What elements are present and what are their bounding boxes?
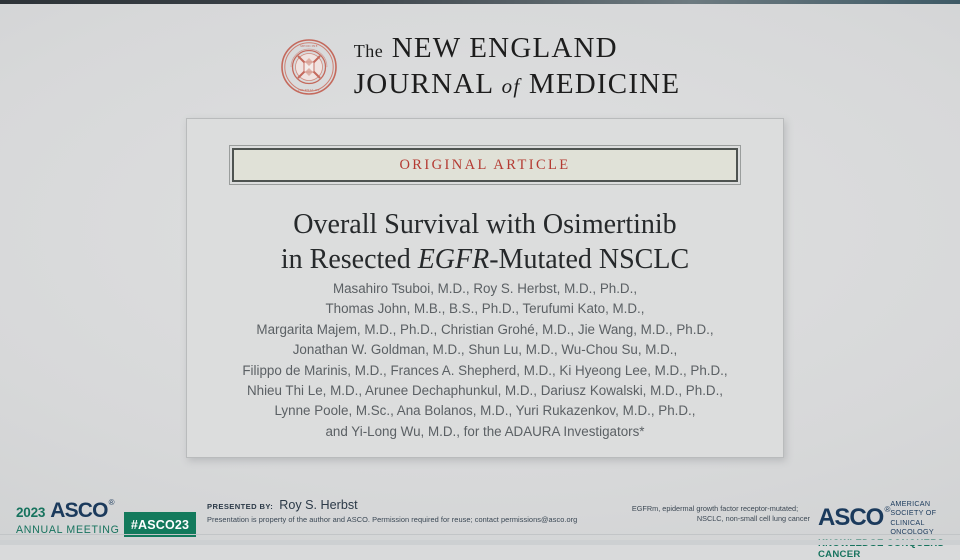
- title-gene-name: EGFR: [418, 244, 490, 275]
- author-line: Margarita Majem, M.D., Ph.D., Christian …: [187, 320, 783, 340]
- title-line2-prefix: in Resected: [281, 244, 418, 275]
- article-card: ORIGINAL ARTICLE Overall Survival with O…: [186, 118, 784, 458]
- article-title: Overall Survival with Osimertinib in Res…: [187, 207, 783, 278]
- footer-divider: [0, 534, 960, 535]
- author-line: Nhieu Thi Le, M.D., Arunee Dechaphunkul,…: [187, 381, 783, 401]
- registered-mark-icon: ®: [884, 506, 889, 514]
- abbreviation-line-2: NSCLC, non-small cell lung cancer: [620, 514, 810, 524]
- author-line: Thomas John, M.B., B.S., Ph.D., Terufumi…: [187, 299, 783, 319]
- masthead-new-england: NEW ENGLAND: [392, 32, 618, 64]
- article-title-line-2: in Resected EGFR-Mutated NSCLC: [187, 242, 783, 277]
- presenter-row: PRESENTED BY: Roy S. Herbst: [207, 498, 577, 512]
- asco-society-name: AMERICAN SOCIETY OF CLINICAL ONCOLOGY: [890, 499, 952, 536]
- asco-wordmark: ASCO®: [50, 499, 107, 523]
- slide-canvas: MEDICINE JOURNAL OF The NEW ENGLAND JOUR…: [0, 4, 960, 540]
- masthead-the: The: [354, 41, 383, 61]
- svg-text:MEDICINE: MEDICINE: [300, 44, 318, 48]
- presenter-name: Roy S. Herbst: [279, 498, 357, 512]
- original-article-label: ORIGINAL ARTICLE: [399, 157, 570, 174]
- svg-text:JOURNAL OF: JOURNAL OF: [298, 88, 320, 92]
- abbreviation-line-1: EGFRm, epidermal growth factor receptor-…: [620, 504, 810, 514]
- author-line: Masahiro Tsuboi, M.D., Roy S. Herbst, M.…: [187, 279, 783, 299]
- masthead-journal: JOURNAL: [354, 68, 493, 100]
- asco-society-name-line-1: AMERICAN SOCIETY OF: [890, 499, 952, 518]
- asco-annual-meeting-logo: 2023 ASCO® ANNUAL MEETING: [16, 499, 120, 536]
- nejm-masthead: MEDICINE JOURNAL OF The NEW ENGLAND JOUR…: [0, 34, 960, 99]
- asco-society-logo-row: ASCO® AMERICAN SOCIETY OF CLINICAL ONCOL…: [818, 499, 952, 536]
- article-title-line-1: Overall Survival with Osimertinib: [187, 207, 783, 242]
- masthead-of: of: [502, 74, 521, 98]
- bottom-letterbox-strip: [0, 540, 960, 545]
- presented-by-label: PRESENTED BY:: [207, 502, 273, 511]
- masthead-line-1: The NEW ENGLAND: [354, 34, 680, 63]
- author-line: Filippo de Marinis, M.D., Frances A. She…: [187, 361, 783, 381]
- original-article-banner: ORIGINAL ARTICLE: [229, 145, 741, 185]
- title-line2-suffix: -Mutated NSCLC: [489, 244, 689, 275]
- nejm-seal-icon: MEDICINE JOURNAL OF: [280, 38, 338, 96]
- asco-society-logo: ASCO® AMERICAN SOCIETY OF CLINICAL ONCOL…: [818, 499, 952, 560]
- permission-note: Presentation is property of the author a…: [207, 515, 577, 524]
- author-line: and Yi-Long Wu, M.D., for the ADAURA Inv…: [187, 422, 783, 442]
- author-line: Jonathan W. Goldman, M.D., Shun Lu, M.D.…: [187, 340, 783, 360]
- presenter-block: PRESENTED BY: Roy S. Herbst Presentation…: [207, 498, 577, 524]
- asco-society-wordmark-text: ASCO: [818, 504, 883, 531]
- original-article-banner-inner: ORIGINAL ARTICLE: [232, 148, 738, 182]
- masthead-line-2: JOURNAL of MEDICINE: [354, 70, 680, 99]
- slide-footer: 2023 ASCO® ANNUAL MEETING #ASCO23 PRESEN…: [0, 491, 960, 539]
- registered-mark-icon: ®: [109, 498, 114, 507]
- asco-wordmark-text: ASCO: [50, 499, 107, 522]
- asco-year: 2023: [16, 505, 45, 520]
- asco-society-wordmark: ASCO®: [818, 506, 883, 530]
- asco-annual-logo-row: 2023 ASCO®: [16, 499, 120, 523]
- author-list: Masahiro Tsuboi, M.D., Roy S. Herbst, M.…: [187, 279, 783, 442]
- nejm-wordmark: The NEW ENGLAND JOURNAL of MEDICINE: [354, 34, 680, 99]
- masthead-medicine: MEDICINE: [529, 68, 680, 100]
- abbreviations-note: EGFRm, epidermal growth factor receptor-…: [620, 504, 810, 525]
- author-line: Lynne Poole, M.Sc., Ana Bolanos, M.D., Y…: [187, 401, 783, 421]
